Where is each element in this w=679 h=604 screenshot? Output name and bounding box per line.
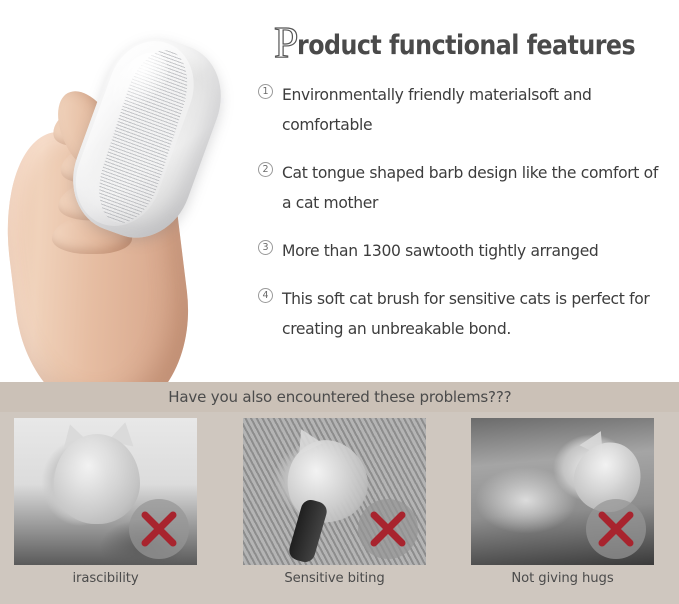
problems-banner-text: Have you also encountered these problems… — [168, 388, 511, 406]
product-features-section: P roduct functional features 1 Environme… — [0, 0, 679, 382]
feature-number-1: 1 — [258, 84, 273, 99]
title-text: roduct functional features — [297, 30, 635, 61]
feature-item-1: 1 Environmentally friendly materialsoft … — [256, 80, 676, 140]
feature-text-3: More than 1300 sawtooth tightly arranged — [282, 236, 660, 266]
x-mark-icon — [358, 499, 418, 559]
product-photo — [0, 0, 250, 382]
feature-number-2: 2 — [258, 162, 273, 177]
problem-card-list: irascibility Sensitive biting — [0, 412, 679, 604]
problem-caption-3: Not giving hugs — [471, 571, 654, 586]
problem-card-3: Not giving hugs — [471, 418, 654, 586]
feature-item-4: 4 This soft cat brush for sensitive cats… — [256, 284, 676, 344]
problem-caption-1: irascibility — [14, 571, 197, 586]
problem-caption-2: Sensitive biting — [243, 571, 426, 586]
feature-number-3: 3 — [258, 240, 273, 255]
title-drop-cap: P — [274, 25, 297, 61]
cat-head-shape — [54, 434, 140, 524]
feature-number-4: 4 — [258, 288, 273, 303]
problem-photo-3 — [471, 418, 654, 565]
features-text-panel: P roduct functional features 1 Environme… — [250, 0, 679, 382]
feature-text-1: Environmentally friendly materialsoft an… — [282, 80, 660, 140]
page-title: P roduct functional features — [274, 22, 679, 61]
problem-card-1: irascibility — [14, 418, 197, 586]
problem-photo-1 — [14, 418, 197, 565]
x-mark-icon — [586, 499, 646, 559]
feature-item-3: 3 More than 1300 sawtooth tightly arrang… — [256, 236, 676, 266]
feature-text-2: Cat tongue shaped barb design like the c… — [282, 158, 660, 218]
feature-list: 1 Environmentally friendly materialsoft … — [256, 80, 676, 344]
x-mark-icon — [129, 499, 189, 559]
problem-photo-2 — [243, 418, 426, 565]
problems-banner: Have you also encountered these problems… — [0, 382, 679, 412]
problem-card-2: Sensitive biting — [243, 418, 426, 586]
feature-text-4: This soft cat brush for sensitive cats i… — [282, 284, 660, 344]
feature-item-2: 2 Cat tongue shaped barb design like the… — [256, 158, 676, 218]
problems-section: Have you also encountered these problems… — [0, 382, 679, 604]
